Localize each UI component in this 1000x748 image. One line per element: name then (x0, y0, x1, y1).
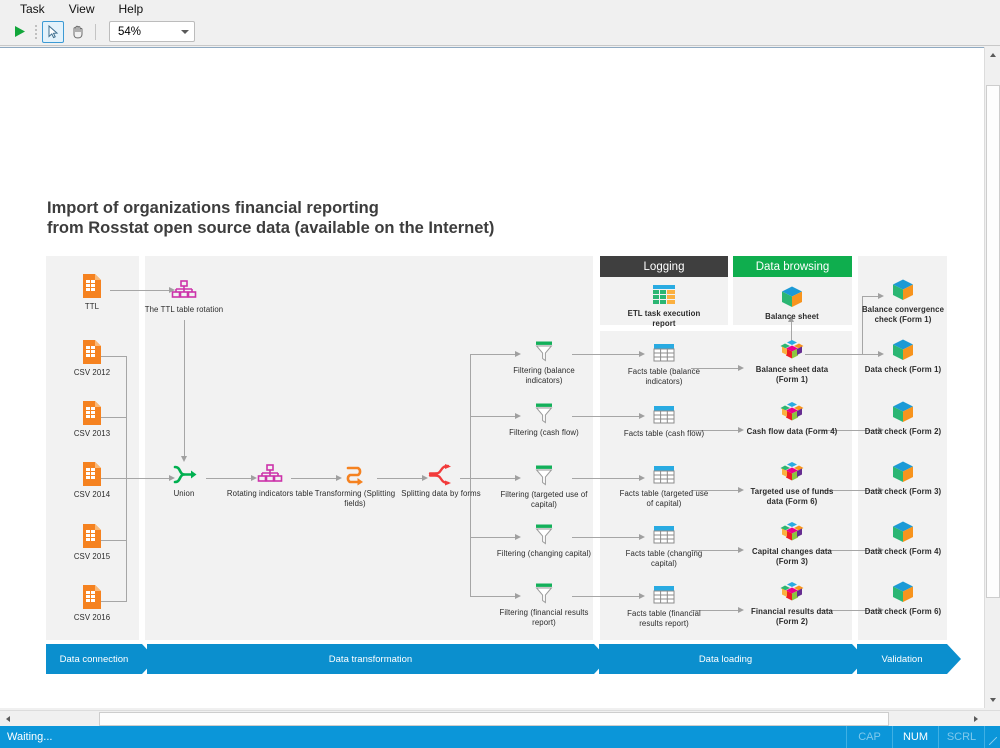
status-num-indicator: NUM (892, 726, 938, 748)
split-icon (393, 460, 489, 486)
chevron-down-icon (990, 698, 996, 702)
run-button[interactable] (8, 21, 30, 43)
node-rotating-indicators-table[interactable]: Rotating indicators table (222, 460, 318, 499)
scroll-right-button[interactable] (968, 711, 984, 727)
node-splitting-data-by-forms[interactable]: Splitting data by forms (393, 460, 489, 499)
cube-icon (855, 276, 951, 302)
node-label: CSV 2015 (44, 552, 140, 562)
file-icon (44, 461, 140, 487)
node-facts-balance-indicators[interactable]: Facts table (balance indicators) (616, 338, 712, 386)
node-label: Union (136, 489, 232, 499)
node-label: TTL (44, 302, 140, 312)
node-source-csv-2013[interactable]: CSV 2013 (44, 400, 140, 439)
chevron-down-icon[interactable] (181, 30, 189, 34)
cube-icon (855, 518, 951, 544)
node-balance-convergence-check[interactable]: Balance convergence check (Form 1) (855, 276, 951, 324)
status-scrl-indicator: SCRL (938, 726, 984, 748)
file-icon (44, 523, 140, 549)
file-icon (44, 273, 140, 299)
page-title: Import of organizations financial report… (47, 198, 667, 238)
node-label: Balance sheet (744, 312, 840, 322)
table-icon (616, 460, 712, 486)
stage-data-connection[interactable]: Data connection (46, 644, 142, 674)
filter-funnel-icon (496, 461, 592, 487)
chevron-left-icon (6, 716, 10, 722)
cube-icon (855, 458, 951, 484)
filter-funnel-icon (496, 579, 592, 605)
filter-funnel-icon (496, 520, 592, 546)
menu-item-task[interactable]: Task (8, 0, 57, 18)
node-source-csv-2014[interactable]: CSV 2014 (44, 461, 140, 500)
menu-item-view[interactable]: View (57, 0, 107, 18)
node-label: Capital changes data (Form 3) (744, 547, 840, 566)
scroll-left-button[interactable] (0, 711, 16, 727)
node-label: Facts table (financial results report) (616, 609, 712, 628)
filter-funnel-icon (496, 399, 592, 425)
cube-icon (855, 578, 951, 604)
node-facts-targeted-use-of-capital[interactable]: Facts table (targeted use of capital) (616, 460, 712, 508)
pivot-table-icon (136, 276, 232, 302)
node-label: Financial results data (Form 2) (744, 607, 840, 626)
resize-grip[interactable] (984, 726, 1000, 748)
page-title-line2: from Rosstat open source data (available… (47, 218, 667, 238)
zoom-level-combobox[interactable]: 54% (109, 21, 195, 42)
logging-header: Logging (600, 256, 728, 277)
node-label: Data check (Form 4) (855, 547, 951, 557)
multicube-icon (744, 398, 840, 424)
page-title-line1: Import of organizations financial report… (47, 198, 667, 218)
node-label: Filtering (targeted use of capital) (496, 490, 592, 509)
file-icon (44, 339, 140, 365)
toolbar: 54% (0, 18, 1000, 46)
menu-item-help[interactable]: Help (106, 0, 155, 18)
file-icon (44, 400, 140, 426)
node-label: Balance sheet data (Form 1) (744, 365, 840, 384)
node-label: Facts table (cash flow) (616, 429, 712, 439)
node-cube-financial-results-data[interactable]: Financial results data (Form 2) (744, 578, 840, 626)
pivot-table-icon (222, 460, 318, 486)
toolbar-separator (95, 24, 96, 40)
node-balance-sheet-report[interactable]: Balance sheet (744, 283, 840, 322)
cube-icon (855, 336, 951, 362)
node-label: Filtering (balance indicators) (496, 366, 592, 385)
node-source-csv-2016[interactable]: CSV 2016 (44, 584, 140, 623)
node-data-check-form-6[interactable]: Data check (Form 6) (855, 578, 951, 617)
chevron-right-icon (974, 716, 978, 722)
node-label: Targeted use of funds data (Form 6) (744, 487, 840, 506)
diagram-canvas[interactable]: Import of organizations financial report… (0, 47, 1000, 708)
scroll-down-button[interactable] (985, 692, 1000, 708)
node-label: Balance convergence check (Form 1) (855, 305, 951, 324)
node-filter-financial-results-report[interactable]: Filtering (financial results report) (496, 579, 592, 627)
stage-data-loading[interactable]: Data loading (599, 644, 852, 674)
cube-icon (744, 283, 840, 309)
node-source-ttl[interactable]: TTL (44, 273, 140, 312)
node-label: Cash flow data (Form 4) (744, 427, 840, 437)
node-label: Data check (Form 6) (855, 607, 951, 617)
pan-tool-button[interactable] (66, 21, 88, 43)
status-bar: Waiting... CAP NUM SCRL (0, 726, 1000, 748)
node-filter-changing-capital[interactable]: Filtering (changing capital) (496, 520, 592, 559)
scroll-up-button[interactable] (985, 47, 1000, 63)
node-label: Splitting data by forms (393, 489, 489, 499)
connector-rotation-to-union (184, 320, 185, 458)
select-tool-button[interactable] (42, 21, 64, 43)
node-facts-changing-capital[interactable]: Facts table (changing capital) (616, 520, 712, 568)
node-transforming-splitting-fields[interactable]: Transforming (Splitting fields) (307, 460, 403, 508)
toolbar-grip (32, 23, 40, 41)
node-cube-balance-sheet-data[interactable]: Balance sheet data (Form 1) (744, 336, 840, 384)
multicube-icon (744, 578, 840, 604)
node-label: CSV 2016 (44, 613, 140, 623)
zoom-level-value: 54% (118, 26, 141, 38)
node-label: CSV 2013 (44, 429, 140, 439)
multicube-icon (744, 458, 840, 484)
data-browsing-header: Data browsing (733, 256, 852, 277)
diagram-content: Import of organizations financial report… (0, 48, 984, 708)
node-label: Facts table (targeted use of capital) (616, 489, 712, 508)
node-label: Rotating indicators table (222, 489, 318, 499)
table-icon (616, 520, 712, 546)
application-window: Task View Help 54% Import of organi (0, 0, 1000, 748)
horizontal-scrollbar[interactable] (0, 710, 1000, 726)
table-icon (616, 580, 712, 606)
node-label: Filtering (cash flow) (496, 428, 592, 438)
node-label: Data check (Form 3) (855, 487, 951, 497)
table-icon (616, 338, 712, 364)
node-data-check-form-2[interactable]: Data check (Form 2) (855, 398, 951, 437)
node-label: Data check (Form 2) (855, 427, 951, 437)
node-union[interactable]: Union (136, 460, 232, 499)
file-icon (44, 584, 140, 610)
filter-funnel-icon (496, 337, 592, 363)
status-cap-indicator: CAP (846, 726, 892, 748)
vertical-scrollbar-thumb[interactable] (986, 85, 1000, 598)
multicube-icon (744, 336, 840, 362)
union-icon (136, 460, 232, 486)
stage-validation[interactable]: Validation (857, 644, 947, 674)
node-filter-targeted-use-of-capital[interactable]: Filtering (targeted use of capital) (496, 461, 592, 509)
node-cube-capital-changes-data[interactable]: Capital changes data (Form 3) (744, 518, 840, 566)
node-filter-cash-flow[interactable]: Filtering (cash flow) (496, 399, 592, 438)
report-table-icon (616, 280, 712, 306)
node-label: Facts table (changing capital) (616, 549, 712, 568)
node-etl-task-execution-report[interactable]: ETL task execution report (616, 280, 712, 328)
node-source-csv-2015[interactable]: CSV 2015 (44, 523, 140, 562)
stage-data-transformation[interactable]: Data transformation (147, 644, 594, 674)
node-filter-balance-indicators[interactable]: Filtering (balance indicators) (496, 337, 592, 385)
chevron-up-icon (990, 53, 996, 57)
node-data-check-form-3[interactable]: Data check (Form 3) (855, 458, 951, 497)
node-source-csv-2012[interactable]: CSV 2012 (44, 339, 140, 378)
horizontal-scrollbar-thumb[interactable] (99, 712, 889, 726)
node-label: Filtering (changing capital) (496, 549, 592, 559)
node-label: Transforming (Splitting fields) (307, 489, 403, 508)
cube-icon (855, 398, 951, 424)
node-data-check-form-1[interactable]: Data check (Form 1) (855, 336, 951, 375)
node-label: ETL task execution report (616, 309, 712, 328)
node-ttl-table-rotation[interactable]: The TTL table rotation (136, 276, 232, 315)
node-label: CSV 2012 (44, 368, 140, 378)
vertical-scrollbar[interactable] (984, 47, 1000, 708)
node-data-check-form-4[interactable]: Data check (Form 4) (855, 518, 951, 557)
node-label: Data check (Form 1) (855, 365, 951, 375)
node-label: CSV 2014 (44, 490, 140, 500)
node-facts-financial-results-report[interactable]: Facts table (financial results report) (616, 580, 712, 628)
status-message: Waiting... (0, 731, 846, 743)
node-label: The TTL table rotation (136, 305, 232, 315)
node-label: Facts table (balance indicators) (616, 367, 712, 386)
transform-arrow-icon (307, 460, 403, 486)
node-label: Filtering (financial results report) (496, 608, 592, 627)
node-cube-targeted-use-of-funds-data[interactable]: Targeted use of funds data (Form 6) (744, 458, 840, 506)
node-cube-cash-flow-data[interactable]: Cash flow data (Form 4) (744, 398, 840, 437)
menu-bar: Task View Help (0, 0, 1000, 18)
table-icon (616, 400, 712, 426)
node-facts-cash-flow[interactable]: Facts table (cash flow) (616, 400, 712, 439)
multicube-icon (744, 518, 840, 544)
